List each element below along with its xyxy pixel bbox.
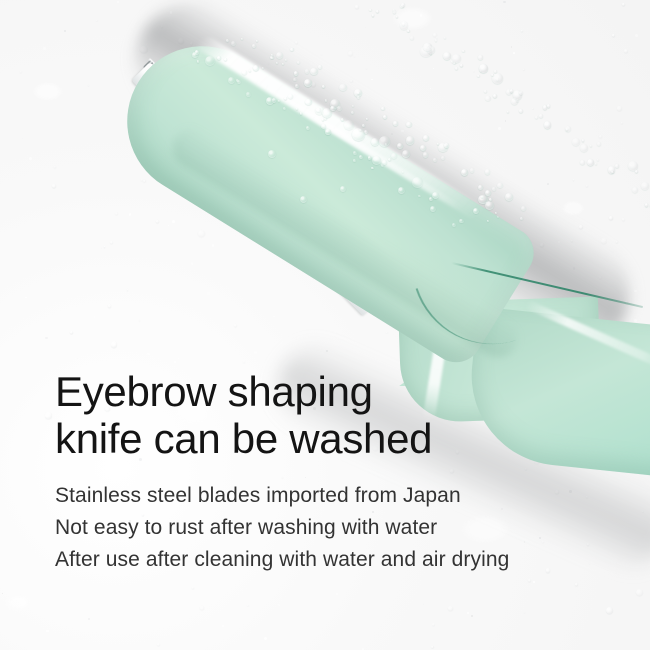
feature-list: Stainless steel blades imported from Jap… <box>55 480 615 576</box>
water-droplet <box>325 99 328 102</box>
feature-line-3: After use after cleaning with water and … <box>55 544 615 576</box>
water-droplet <box>410 36 414 40</box>
water-droplet <box>297 61 301 65</box>
water-droplet <box>478 185 483 190</box>
water-droplet <box>276 62 278 64</box>
water-droplet <box>597 142 601 146</box>
water-droplet <box>443 52 451 60</box>
water-droplet <box>430 206 436 212</box>
water-droplet <box>300 196 307 203</box>
water-droplet <box>412 177 423 188</box>
water-droplet <box>470 168 474 172</box>
water-droplet <box>641 182 649 190</box>
water-droplet <box>372 156 381 165</box>
water-droplet <box>505 193 513 201</box>
water-droplet <box>444 37 446 39</box>
water-droplet <box>382 160 387 165</box>
water-droplet <box>192 52 198 58</box>
water-droplet <box>276 52 283 59</box>
water-droplet <box>492 73 503 84</box>
water-droplet <box>497 183 503 189</box>
water-droplet <box>461 169 468 176</box>
water-droplet <box>580 160 585 165</box>
water-droplet <box>418 195 420 197</box>
water-droplet <box>595 163 597 165</box>
water-droplet <box>226 39 229 42</box>
water-droplet <box>246 92 250 96</box>
water-droplet <box>485 190 491 196</box>
water-droplet <box>371 138 379 146</box>
water-droplet <box>521 206 526 211</box>
water-droplet <box>572 138 580 146</box>
water-droplet <box>597 159 599 161</box>
water-droplet <box>256 40 258 42</box>
water-droplet <box>294 71 298 75</box>
water-droplet <box>459 219 463 223</box>
water-droplet <box>485 201 494 210</box>
water-droplet <box>383 115 387 119</box>
water-droplet <box>401 3 405 7</box>
water-droplet <box>353 159 356 162</box>
water-droplet <box>357 96 360 99</box>
water-droplet <box>393 121 398 126</box>
water-droplet <box>455 67 458 70</box>
water-droplet <box>547 104 551 108</box>
water-droplet <box>402 150 410 158</box>
water-droplet <box>241 38 243 40</box>
water-droplet <box>381 107 384 110</box>
water-droplet <box>494 70 497 73</box>
water-droplet <box>587 159 594 166</box>
water-droplet <box>433 158 436 161</box>
feature-line-2: Not easy to rust after washing with wate… <box>55 512 615 544</box>
water-droplet <box>519 109 523 113</box>
water-droplet <box>539 114 543 118</box>
water-droplet <box>197 60 199 62</box>
water-droplet <box>293 78 296 81</box>
water-droplet <box>580 144 588 152</box>
page-title: Eyebrow shaping knife can be washed <box>55 368 615 462</box>
water-droplet <box>535 116 538 119</box>
water-droplet <box>435 39 437 41</box>
water-droplet <box>379 136 390 147</box>
water-droplet <box>429 197 433 201</box>
feature-line-1: Stainless steel blades imported from Jap… <box>55 480 615 512</box>
water-droplet <box>396 16 398 18</box>
water-droplet <box>366 118 368 120</box>
water-droplet <box>485 96 490 101</box>
water-droplet <box>217 56 222 61</box>
water-droplet <box>391 153 397 159</box>
water-droplet <box>611 171 613 173</box>
water-droplet <box>285 59 287 61</box>
water-droplet <box>420 46 431 57</box>
water-droplet <box>369 9 372 12</box>
water-droplet <box>635 170 638 173</box>
water-droplet <box>224 58 227 61</box>
water-droplet <box>339 84 347 92</box>
water-droplet <box>590 145 592 147</box>
water-droplet <box>495 212 497 214</box>
water-droplet <box>407 30 409 32</box>
water-droplet <box>270 56 273 59</box>
water-droplet <box>318 65 322 69</box>
water-droplet <box>282 63 284 65</box>
product-marketing-image: Eyebrow shaping knife can be washed Stai… <box>0 0 650 650</box>
water-droplet <box>352 105 354 107</box>
water-droplet <box>306 126 310 130</box>
water-droplet <box>305 69 309 73</box>
water-droplet <box>400 21 408 29</box>
water-droplet <box>253 65 259 71</box>
water-droplet <box>242 70 247 75</box>
water-droplet <box>322 119 324 121</box>
water-droplet <box>511 98 518 105</box>
water-droplet <box>615 164 619 168</box>
water-droplet <box>362 124 365 127</box>
water-droplet <box>420 145 426 151</box>
water-droplet <box>372 14 375 17</box>
water-droplet <box>582 139 585 142</box>
water-droplet <box>337 106 342 111</box>
water-droplet <box>645 203 649 207</box>
water-droplet <box>423 135 429 141</box>
water-droplet <box>485 169 490 174</box>
water-droplet <box>385 143 387 145</box>
water-droplet <box>452 54 461 63</box>
water-droplet <box>460 64 464 68</box>
water-droplet <box>268 150 276 158</box>
water-droplet <box>632 187 638 193</box>
water-droplet <box>492 187 496 191</box>
water-droplet <box>493 94 497 98</box>
water-droplet <box>376 10 379 13</box>
water-droplet <box>295 84 299 88</box>
water-droplet <box>231 41 236 46</box>
water-droplet <box>478 55 483 60</box>
water-droplet <box>441 156 445 160</box>
water-droplet <box>484 90 487 93</box>
water-droplet <box>322 108 332 118</box>
water-droplet <box>290 48 293 51</box>
water-droplet <box>310 68 318 76</box>
water-droplet <box>437 143 439 145</box>
water-droplet <box>520 217 523 220</box>
water-droplet <box>398 187 405 194</box>
water-droplet <box>305 99 311 105</box>
water-droplet <box>479 64 488 73</box>
water-droplet <box>510 89 513 92</box>
water-droplet <box>304 79 312 87</box>
water-droplet <box>344 120 354 130</box>
water-droplet <box>462 50 465 53</box>
water-droplet <box>325 129 330 134</box>
water-droplet <box>316 108 320 112</box>
water-droplet <box>507 111 509 113</box>
water-droplet <box>340 186 346 192</box>
water-droplet <box>406 136 415 145</box>
water-droplet <box>352 128 365 141</box>
water-droplet <box>444 143 449 148</box>
water-droplet <box>371 167 373 169</box>
water-droplet <box>544 121 552 129</box>
water-droplet <box>397 143 403 149</box>
water-droplet <box>205 56 215 66</box>
water-droplet <box>252 44 256 48</box>
water-droplet <box>351 111 354 114</box>
marketing-copy: Eyebrow shaping knife can be washed Stai… <box>55 368 615 576</box>
water-droplet <box>477 75 480 78</box>
water-droplet <box>353 151 357 155</box>
water-droplet <box>322 85 325 88</box>
water-droplet <box>406 122 411 127</box>
water-droplet <box>519 91 523 95</box>
water-droplet <box>423 152 429 158</box>
